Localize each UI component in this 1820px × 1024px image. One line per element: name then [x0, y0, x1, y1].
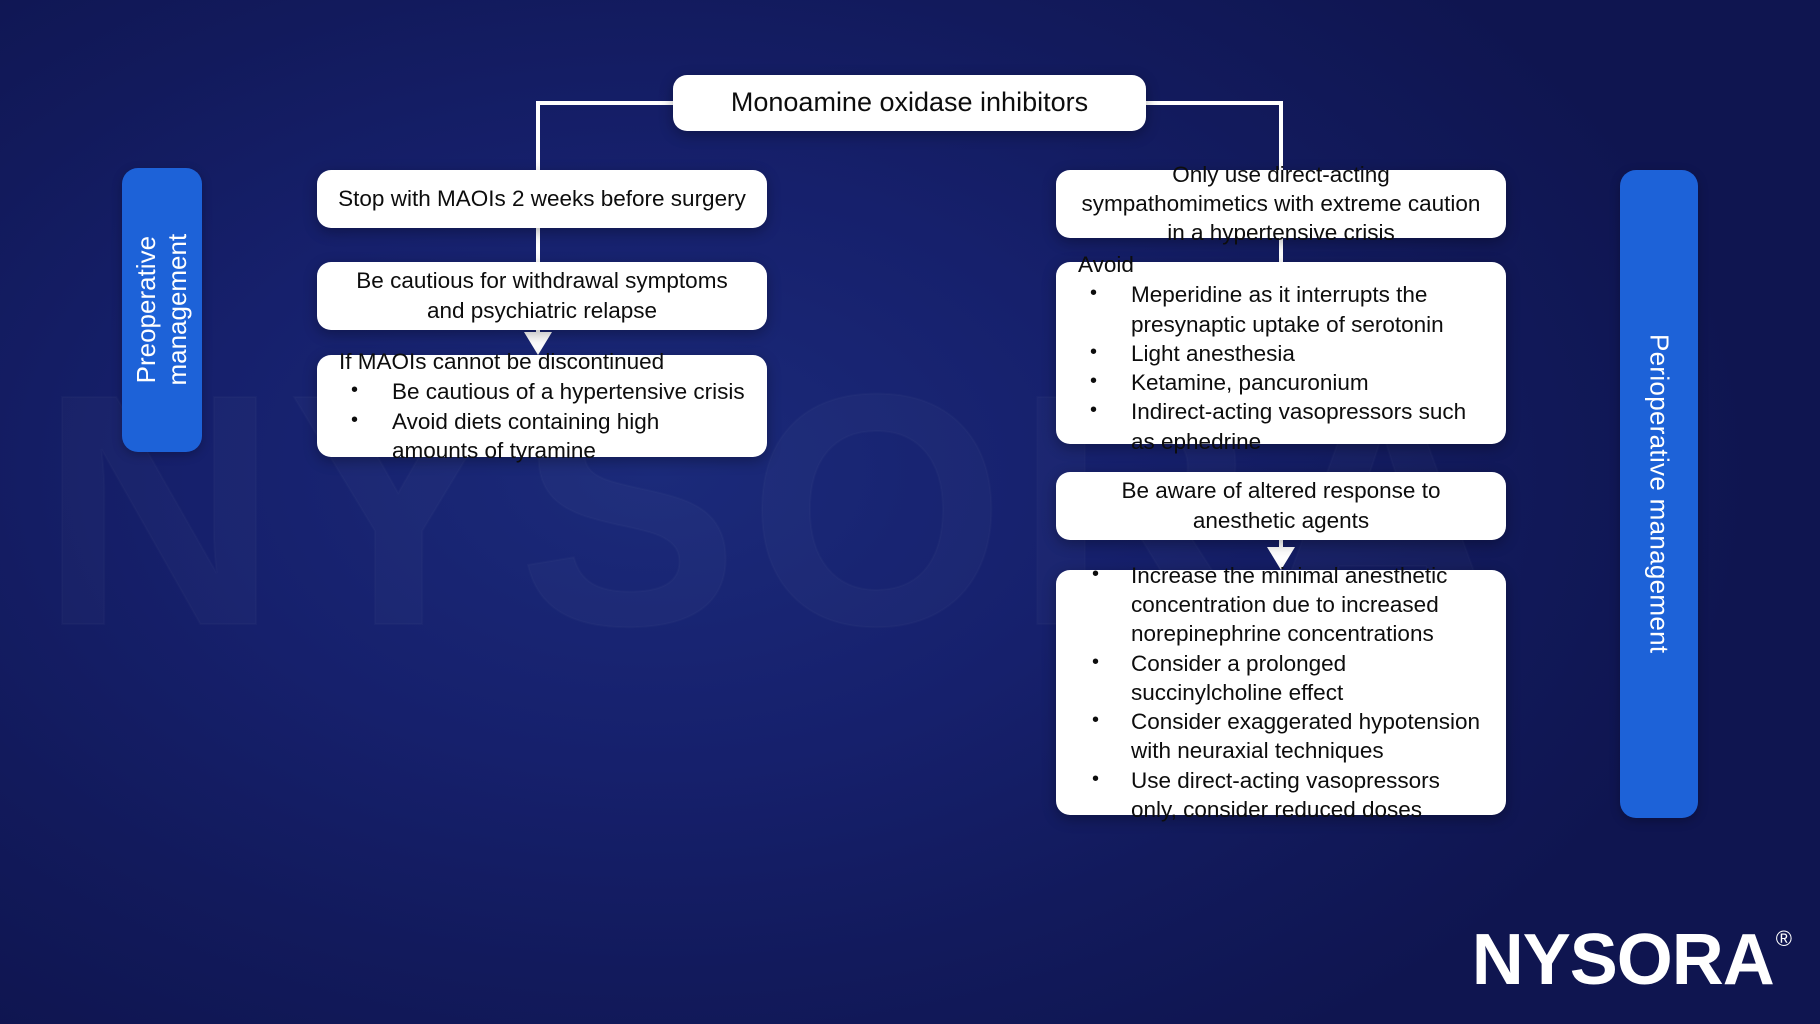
nysora-logo: NYSORA ® — [1472, 924, 1792, 996]
side-tab-preoperative-label: Preoperative management — [131, 234, 192, 386]
side-tab-perioperative-label: Perioperative management — [1644, 334, 1675, 653]
registered-trademark-icon: ® — [1776, 928, 1792, 950]
list-item: Be cautious of a hypertensive crisis — [339, 377, 745, 406]
node-direct-acting-sympathomimetics[interactable]: Only use direct-acting sympathomimetics … — [1056, 170, 1506, 238]
nysora-wordmark: NYSORA — [1472, 924, 1774, 996]
node-altered-response-lead: Be aware of altered response to anesthet… — [1076, 476, 1486, 535]
list-item: Avoid diets containing high amounts of t… — [339, 407, 745, 466]
flow-connectors — [0, 0, 1820, 1024]
node-anesthetic-considerations-bullets: Increase the minimal anesthetic concentr… — [1078, 561, 1484, 824]
node-cannot-discontinue-bullets: Be cautious of a hypertensive crisis Avo… — [339, 377, 745, 465]
node-altered-response[interactable]: Be aware of altered response to anesthet… — [1056, 472, 1506, 540]
node-withdrawal-symptoms-lead: Be cautious for withdrawal symptoms and … — [337, 266, 747, 325]
node-stop-maois-lead: Stop with MAOIs 2 weeks before surgery — [337, 184, 747, 213]
node-root-monoamine-oxidase-inhibitors[interactable]: Monoamine oxidase inhibitors — [673, 75, 1146, 131]
list-item: Use direct-acting vasopressors only, con… — [1078, 766, 1484, 825]
node-cannot-discontinue[interactable]: If MAOIs cannot be discontinued Be cauti… — [317, 355, 767, 457]
list-item: Meperidine as it interrupts the presynap… — [1078, 280, 1484, 339]
side-tab-preoperative-line2: management — [162, 234, 192, 386]
side-tab-perioperative-management[interactable]: Perioperative management — [1620, 170, 1698, 818]
list-item: Consider exaggerated hypotension with ne… — [1078, 707, 1484, 766]
node-root-label: Monoamine oxidase inhibitors — [693, 85, 1126, 120]
node-withdrawal-symptoms[interactable]: Be cautious for withdrawal symptoms and … — [317, 262, 767, 330]
side-tab-preoperative-management[interactable]: Preoperative management — [122, 168, 202, 452]
node-direct-acting-sympathomimetics-lead: Only use direct-acting sympathomimetics … — [1076, 160, 1486, 248]
node-anesthetic-considerations[interactable]: Increase the minimal anesthetic concentr… — [1056, 570, 1506, 815]
node-avoid-lead: Avoid — [1078, 250, 1484, 279]
node-avoid-bullets: Meperidine as it interrupts the presynap… — [1078, 280, 1484, 456]
diagram-canvas: NYSORA NYSORA Preoperative management Pe… — [0, 0, 1820, 1024]
side-tab-preoperative-line1: Preoperative — [131, 236, 161, 383]
node-avoid[interactable]: Avoid Meperidine as it interrupts the pr… — [1056, 262, 1506, 444]
list-item: Ketamine, pancuronium — [1078, 368, 1484, 397]
node-stop-maois[interactable]: Stop with MAOIs 2 weeks before surgery — [317, 170, 767, 228]
list-item: Consider a prolonged succinylcholine eff… — [1078, 649, 1484, 708]
list-item: Increase the minimal anesthetic concentr… — [1078, 561, 1484, 649]
node-cannot-discontinue-lead: If MAOIs cannot be discontinued — [339, 347, 745, 376]
list-item: Indirect-acting vasopressors such as eph… — [1078, 397, 1484, 456]
list-item: Light anesthesia — [1078, 339, 1484, 368]
